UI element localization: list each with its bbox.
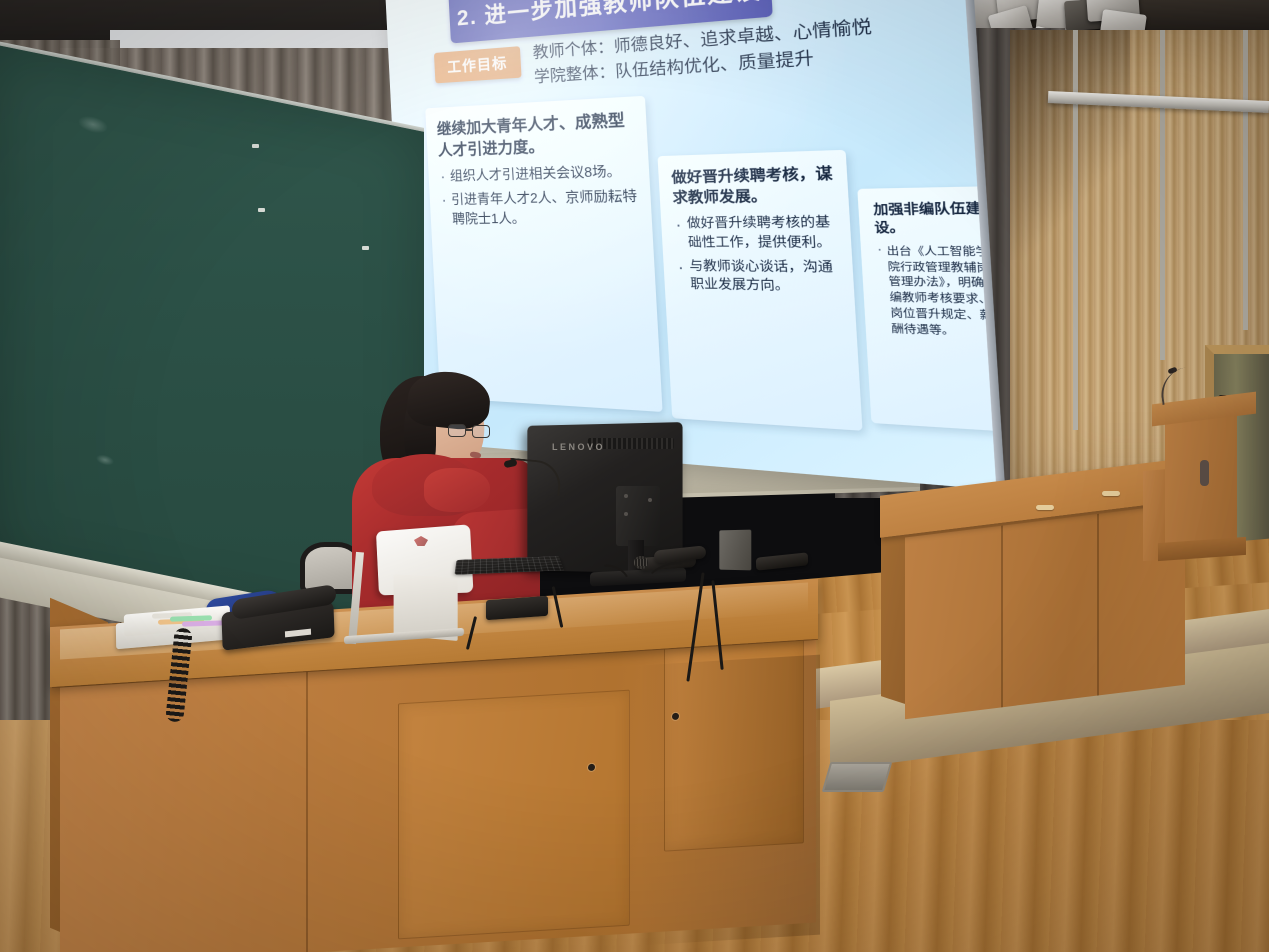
- work-goal-tag-label: 工作目标: [447, 52, 508, 77]
- eyeglass-lens: [448, 424, 466, 437]
- slide-card: 做好晋升续聘考核，谋求教师发展。 做好晋升续聘考核的基础性工作，提供便利。 与教…: [657, 150, 862, 431]
- document-camera-plate[interactable]: [719, 530, 751, 571]
- hoodie-collar: [424, 468, 490, 512]
- table-panel-seam: [1001, 517, 1003, 707]
- slide-card: 加强非编队伍建设。 出台《人工智能学院行政管理教辅岗管理办法》，明确非编教师考核…: [857, 186, 998, 433]
- slide-card-bullet: 引进青年人才2人、京师励耘特聘院士1人。: [440, 186, 640, 229]
- wall-divider: [1243, 30, 1248, 330]
- projector-remote[interactable]: [756, 552, 808, 570]
- table-cable-port[interactable]: [1102, 491, 1120, 496]
- board-clip: [362, 246, 369, 250]
- wall-shadow: [1010, 30, 1130, 260]
- slide-card-heading: 继续加大青年人才、成熟型人才引进力度。: [436, 109, 635, 162]
- table-cable-port[interactable]: [1036, 505, 1054, 510]
- cabinet-door[interactable]: [398, 690, 630, 940]
- lectern-control-plate[interactable]: [1200, 460, 1209, 486]
- slide-card-bullet: 组织人才引进相关会议8场。: [439, 161, 637, 186]
- monitor-screw: [624, 512, 628, 516]
- slide-card: 继续加大青年人才、成熟型人才引进力度。 组织人才引进相关会议8场。 引进青年人才…: [425, 96, 662, 412]
- slide-card-bullet: 做好晋升续聘考核的基础性工作，提供便利。: [674, 213, 838, 253]
- lenovo-logo: LENOVO: [552, 442, 605, 452]
- work-goal-tag: 工作目标: [434, 46, 522, 83]
- desk-shadow: [640, 655, 820, 946]
- board-clip: [252, 144, 259, 148]
- eyeglass-lens: [472, 425, 490, 438]
- desk-seam: [306, 663, 308, 952]
- floor-access-plate: [822, 762, 893, 792]
- table-panel-seam: [1097, 505, 1099, 695]
- monitor-mount: [616, 486, 660, 546]
- chalk-smudge: [78, 113, 108, 135]
- eyeglasses-icon: [448, 424, 492, 438]
- monitor-screw: [648, 498, 652, 502]
- eyeglass-bridge: [466, 429, 472, 431]
- slide-card-bullets: 做好晋升续聘考核的基础性工作，提供便利。 与教师谈心谈话，沟通职业发展方向。: [674, 213, 840, 297]
- wall-divider: [1160, 30, 1165, 360]
- lecture-hall-photo: 聚力，推动学院快速发展 2. 进一步加强教师队伍建设 工作目标 教师个体：师德良…: [0, 0, 1269, 952]
- chalk-smudge: [96, 453, 114, 467]
- slide-card-bullet: 与教师谈心谈话，沟通职业发展方向。: [676, 257, 840, 297]
- slide-card-bullets: 出台《人工智能学院行政管理教辅岗管理办法》，明确非编教师考核要求、岗位晋升规定、…: [875, 244, 997, 340]
- wall-divider: [1073, 30, 1078, 430]
- board-clip: [258, 208, 265, 212]
- monitor-screw: [624, 494, 628, 498]
- slide-card-heading: 做好晋升续聘考核，谋求教师发展。: [671, 163, 834, 208]
- slide-card-bullet: 出台《人工智能学院行政管理教辅岗管理办法》，明确非编教师考核要求、岗位晋升规定、…: [875, 244, 997, 340]
- slide-card-bullets: 组织人才引进相关会议8场。 引进青年人才2人、京师励耘特聘院士1人。: [439, 161, 640, 229]
